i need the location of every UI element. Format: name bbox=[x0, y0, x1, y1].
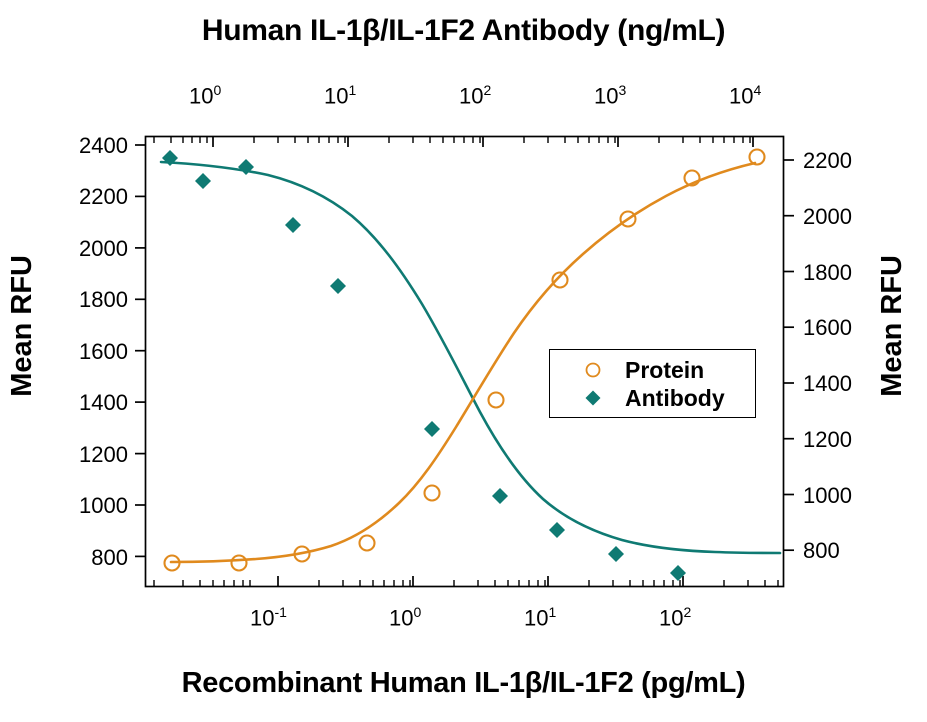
data-point bbox=[195, 173, 211, 189]
left-tick-label: 2400 bbox=[55, 133, 128, 159]
right-tick-label: 1400 bbox=[803, 371, 852, 397]
chart-legend: Protein Antibody bbox=[549, 349, 756, 418]
filled-diamond-icon bbox=[580, 383, 606, 413]
data-point bbox=[360, 536, 375, 551]
left-tick-label: 2000 bbox=[55, 236, 128, 262]
left-tick-label: 800 bbox=[55, 545, 128, 571]
bottom-tick-label: 100 bbox=[389, 604, 421, 631]
right-tick-label: 1000 bbox=[803, 483, 852, 509]
top-tick-label: 103 bbox=[594, 82, 626, 109]
bottom-axis-ticks bbox=[154, 576, 778, 587]
right-tick-label: 1600 bbox=[803, 315, 852, 341]
left-tick-label: 1000 bbox=[55, 493, 128, 519]
right-tick-label: 800 bbox=[803, 538, 840, 564]
bottom-tick-label: 102 bbox=[659, 604, 691, 631]
left-tick-label: 1600 bbox=[55, 339, 128, 365]
legend-item-antibody[interactable]: Antibody bbox=[550, 383, 757, 413]
top-tick-label: 104 bbox=[729, 82, 761, 109]
data-point bbox=[750, 150, 765, 165]
data-point bbox=[425, 486, 440, 501]
data-point bbox=[330, 278, 346, 294]
open-circle-icon bbox=[580, 355, 606, 385]
data-point bbox=[492, 488, 508, 504]
left-tick-label: 1800 bbox=[55, 287, 128, 313]
bottom-tick-label: 101 bbox=[524, 604, 556, 631]
top-tick-label: 100 bbox=[189, 82, 221, 109]
left-tick-label: 2200 bbox=[55, 184, 128, 210]
legend-label: Protein bbox=[625, 355, 704, 385]
left-tick-label: 1200 bbox=[55, 442, 128, 468]
data-point bbox=[549, 522, 565, 538]
data-point bbox=[608, 546, 624, 562]
right-tick-label: 1200 bbox=[803, 427, 852, 453]
data-point bbox=[232, 556, 247, 571]
legend-label: Antibody bbox=[625, 383, 725, 413]
top-tick-label: 101 bbox=[324, 82, 356, 109]
legend-item-protein[interactable]: Protein bbox=[550, 355, 757, 385]
top-axis-ticks bbox=[154, 137, 753, 148]
right-axis-ticks bbox=[784, 160, 795, 550]
top-tick-label: 102 bbox=[459, 82, 491, 109]
right-tick-label: 2000 bbox=[803, 204, 852, 230]
data-point bbox=[424, 421, 440, 437]
data-point bbox=[489, 393, 504, 408]
data-point bbox=[285, 217, 301, 233]
right-tick-label: 2200 bbox=[803, 148, 852, 174]
left-axis-ticks bbox=[135, 145, 146, 556]
bottom-tick-label: 10-1 bbox=[250, 604, 287, 631]
right-tick-label: 1800 bbox=[803, 260, 852, 286]
left-tick-label: 1400 bbox=[55, 390, 128, 416]
